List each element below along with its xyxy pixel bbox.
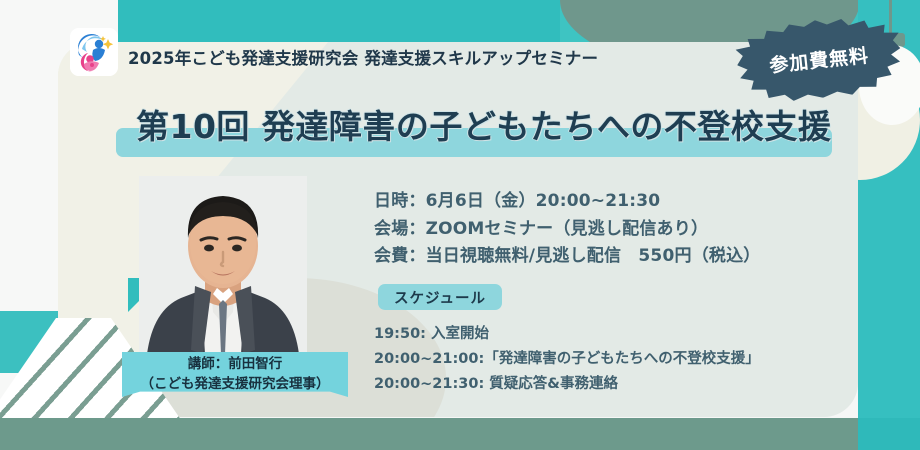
speaker-portrait-illustration	[139, 176, 307, 354]
organization-logo	[70, 28, 118, 76]
schedule-item: 19:50: 入室開始	[374, 322, 760, 347]
detail-fee: 会費：当日視聴無料/見逃し配信 550円（税込）	[374, 243, 761, 271]
bg-teal-bottom-right	[858, 418, 920, 450]
schedule-chip: スケジュール	[378, 284, 502, 310]
speaker-affiliation: （こども発達支援研究会理事）	[141, 375, 330, 395]
schedule-item: 20:00~21:30: 質疑応答&事務連絡	[374, 372, 760, 397]
schedule-list: 19:50: 入室開始 20:00~21:00:「発達障害の子どもたちへの不登校…	[374, 322, 760, 397]
event-details: 日時：6月6日（金）20:00~21:30 会場：ZOOMセミナー（見逃し配信あ…	[374, 188, 761, 271]
seminar-flyer: 2025年こども発達支援研究会 発達支援スキルアップセミナー 第10回 発達障害…	[0, 0, 920, 450]
bg-sage-bottom-band	[0, 418, 920, 450]
detail-datetime: 日時：6月6日（金）20:00~21:30	[374, 188, 761, 216]
speaker-photo	[139, 176, 307, 354]
badge-label: 参加費無料	[733, 12, 904, 107]
detail-venue: 会場：ZOOMセミナー（見逃し配信あり）	[374, 216, 761, 244]
schedule-item: 20:00~21:00:「発達障害の子どもたちへの不登校支援」	[374, 347, 760, 372]
page-title: 第10回 発達障害の子どもたちへの不登校支援	[136, 100, 896, 148]
seminar-kicker: 2025年こども発達支援研究会 発達支援スキルアップセミナー	[128, 45, 598, 69]
speaker-name: 講師：前田智行	[188, 355, 283, 375]
logo-mark-icon	[70, 28, 118, 76]
speaker-caption: 講師：前田智行 （こども発達支援研究会理事）	[122, 352, 348, 397]
free-admission-badge: 参加費無料	[737, 20, 901, 98]
